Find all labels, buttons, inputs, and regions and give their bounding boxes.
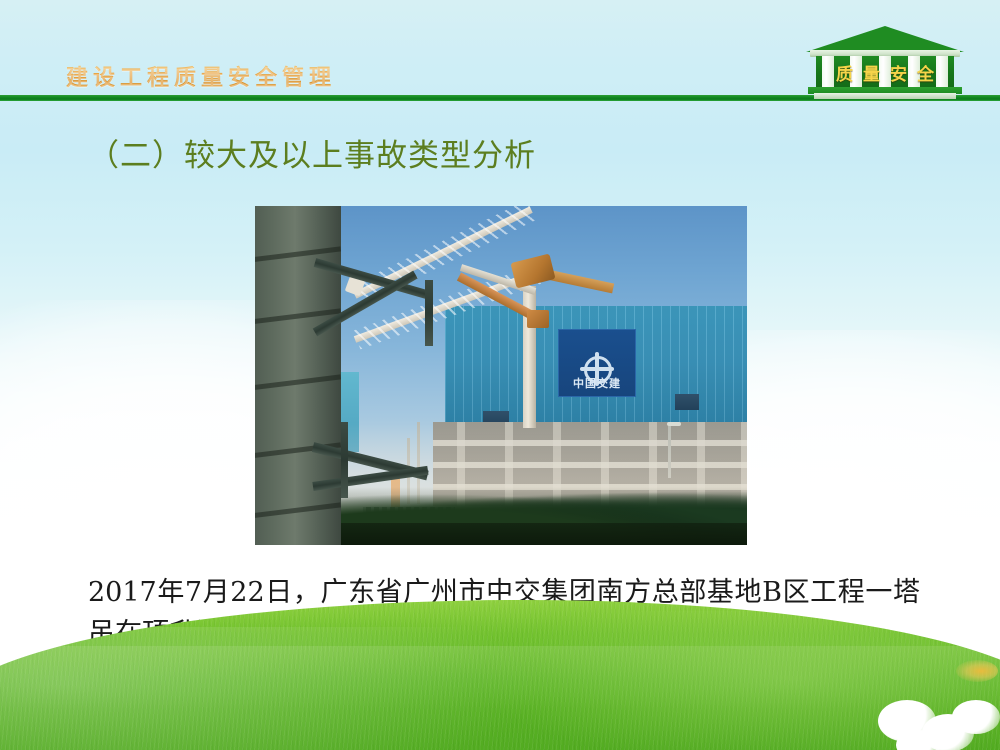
collapsed-tower-crane-photo: 中国交建 [255,206,747,545]
decorative-grass-field [0,600,1000,750]
photo-company-sign: 中国交建 [558,329,636,397]
header-title: 建设工程质量安全管理 [66,60,336,92]
photo-foreground-column [255,206,341,545]
temple-building-icon: 质量安全 [806,26,964,102]
flower-icon [952,700,1000,734]
photo-building-canopy [675,394,699,410]
photo-column-band [255,374,341,390]
logo-label: 质量安全 [806,60,964,85]
photo-crane-cab [527,310,549,328]
photo-column-band [255,502,341,518]
logo-roof-shape [806,26,964,52]
logo-base-step-shape [814,93,956,99]
sun-glow-icon [956,660,998,682]
photo-steel-beam [425,280,433,346]
page-title: （二）较大及以上事故类型分析 [88,130,536,175]
presentation-slide: 建设工程质量安全管理 质量安全 （二）较大及以上事故类型分析 中国交建 [0,0,1000,750]
photo-column-band [255,246,341,262]
photo-steel-beam [341,422,348,498]
photo-company-sign-label: 中国交建 [559,375,635,391]
